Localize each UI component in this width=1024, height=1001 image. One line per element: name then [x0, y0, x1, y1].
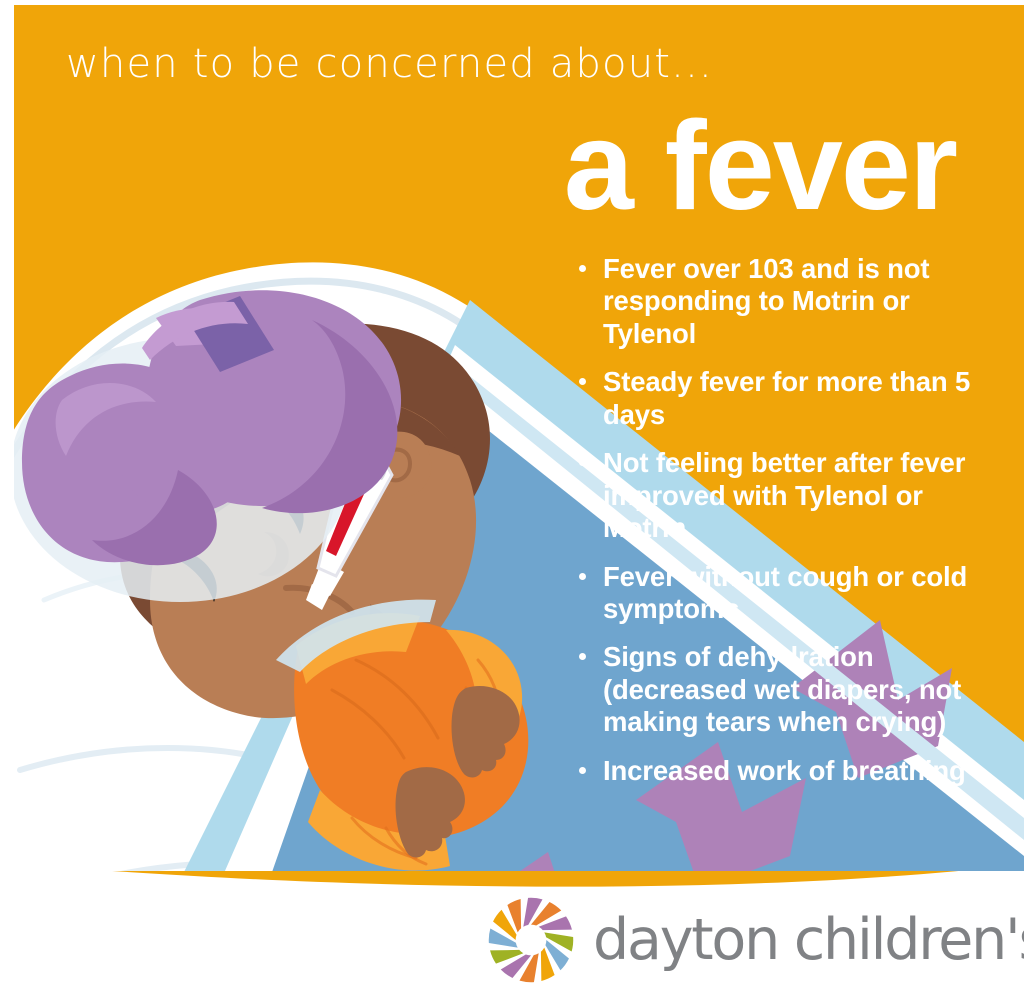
warning-signs-list: Fever over 103 and is not responding to … — [575, 253, 995, 787]
list-item-label: Signs of dehydration (decreased wet diap… — [603, 641, 961, 737]
bullet-dot-icon — [579, 265, 586, 272]
list-item: Increased work of breathing — [575, 755, 995, 787]
infographic-poster: when to be concerned about... a fever Fe… — [0, 0, 1024, 1001]
pinwheel-burst-icon — [483, 892, 579, 988]
brand-wordmark: dayton children's — [593, 912, 1024, 969]
bullet-dot-icon — [579, 378, 586, 385]
bullet-dot-icon — [579, 459, 586, 466]
list-item: Steady fever for more than 5 days — [575, 366, 995, 431]
page-title: a fever — [564, 100, 956, 232]
brand-logo[interactable]: dayton children's — [483, 892, 1024, 988]
list-item: Not feeling better after fever improved … — [575, 447, 995, 544]
bullet-dot-icon — [579, 573, 586, 580]
list-item-label: Increased work of breathing — [603, 755, 966, 786]
bullet-dot-icon — [579, 653, 586, 660]
list-item-label: Fever without cough or cold symptoms — [603, 561, 967, 624]
list-item-label: Fever over 103 and is not responding to … — [603, 253, 929, 349]
list-item: Fever without cough or cold symptoms — [575, 561, 995, 626]
page-eyebrow-headline: when to be concerned about... — [66, 44, 713, 84]
bullet-dot-icon — [579, 767, 586, 774]
list-item: Signs of dehydration (decreased wet diap… — [575, 641, 995, 738]
list-item: Fever over 103 and is not responding to … — [575, 253, 995, 350]
list-item-label: Steady fever for more than 5 days — [603, 366, 970, 429]
list-item-label: Not feeling better after fever improved … — [603, 447, 965, 543]
